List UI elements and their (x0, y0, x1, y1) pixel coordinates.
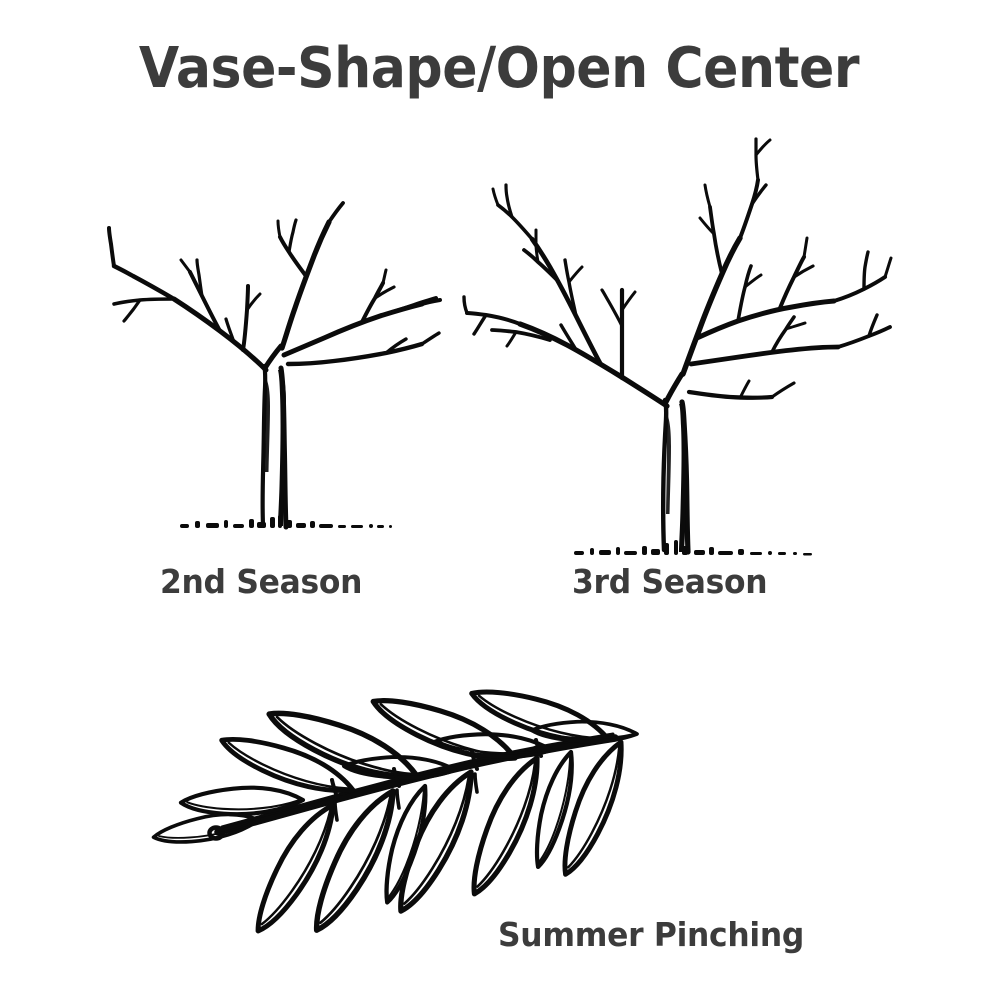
tree-scaffold-right-3rd (683, 139, 891, 398)
caption-3rd-season: 3rd Season (572, 562, 767, 601)
leaf-lower-1 (152, 812, 260, 844)
illustration-2nd-season-tree (100, 180, 450, 550)
tree-3rd-season-svg (450, 110, 950, 560)
leafy-shoot-svg (185, 630, 725, 930)
illustration-3rd-season-tree (450, 110, 950, 560)
ground-line-3rd (574, 540, 812, 556)
tree-scaffold-right-2nd (278, 203, 440, 364)
page-title: Vase-Shape/Open Center (35, 40, 963, 99)
tree-scaffold-left-3rd (464, 185, 667, 406)
caption-summer-pinching: Summer Pinching (498, 915, 804, 954)
illustration-summer-pinching (185, 630, 725, 930)
tree-trunk-2nd (263, 346, 286, 527)
tree-2nd-season-svg (100, 180, 450, 550)
leaf-lower-8 (545, 737, 641, 879)
tree-trunk-3rd (663, 374, 688, 552)
pruning-diagram-figure: Vase-Shape/Open Center (0, 0, 998, 998)
shoot-stem (210, 734, 616, 839)
tree-scaffold-left-2nd (109, 228, 266, 370)
caption-2nd-season: 2nd Season (160, 562, 362, 601)
